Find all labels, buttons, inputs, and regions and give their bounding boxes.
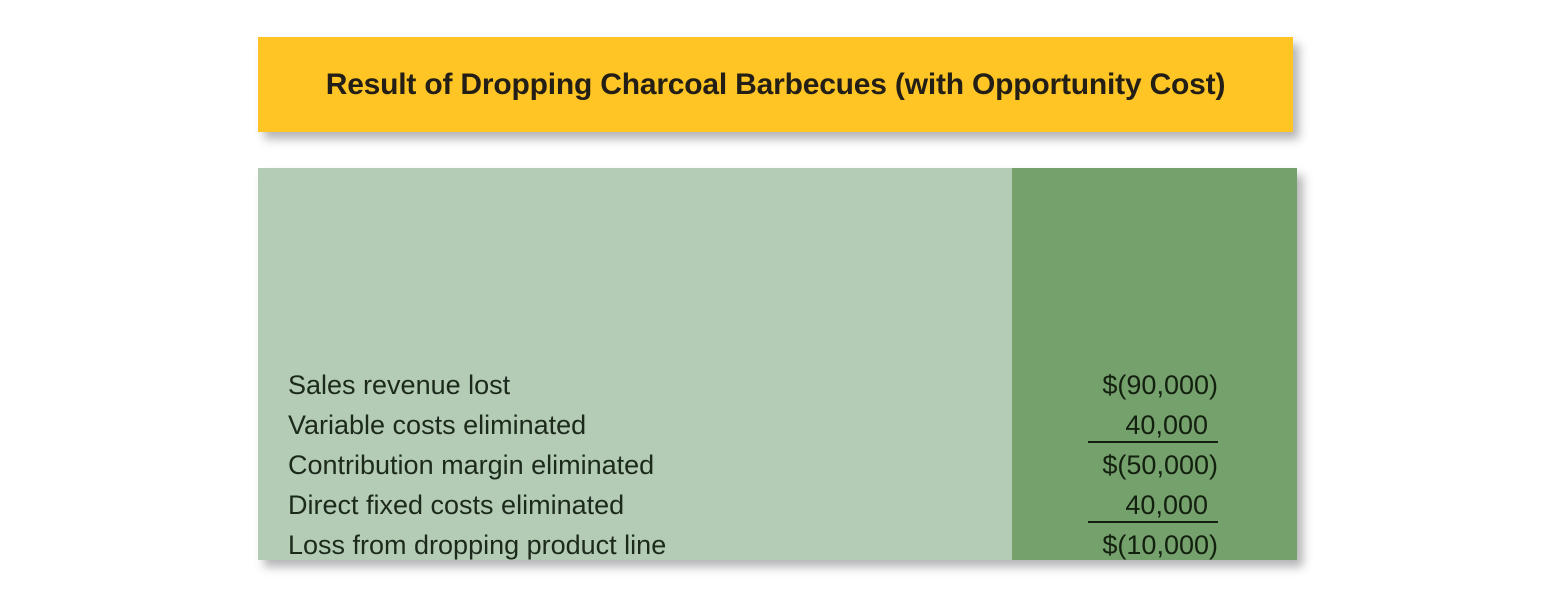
table-row: Loss from dropping product line$(10,000)	[258, 525, 1297, 560]
table-row: Variable costs eliminated40,000	[258, 405, 1297, 445]
table-rows: Sales revenue lost$(90,000)Variable cost…	[258, 168, 1297, 560]
row-amount: $(10,000)	[1102, 525, 1218, 560]
row-label: Loss from dropping product line	[288, 525, 666, 560]
row-label: Contribution margin eliminated	[288, 445, 654, 485]
row-label: Sales revenue lost	[288, 365, 510, 405]
row-label: Variable costs eliminated	[288, 405, 586, 445]
exhibit-figure: Result of Dropping Charcoal Barbecues (w…	[0, 0, 1560, 597]
row-amount: 40,000	[1125, 485, 1208, 525]
subtotal-rule	[1088, 441, 1218, 443]
table-row: Sales revenue lost$(90,000)	[258, 365, 1297, 405]
exhibit-title: Result of Dropping Charcoal Barbecues (w…	[326, 68, 1226, 102]
row-amount: $(90,000)	[1102, 365, 1218, 405]
table-row: Contribution margin eliminated$(50,000)	[258, 445, 1297, 485]
exhibit-body-panel: Sales revenue lost$(90,000)Variable cost…	[258, 168, 1297, 560]
exhibit-title-bar: Result of Dropping Charcoal Barbecues (w…	[258, 37, 1293, 132]
subtotal-rule	[1088, 521, 1218, 523]
row-label: Direct fixed costs eliminated	[288, 485, 624, 525]
row-amount: 40,000	[1125, 405, 1208, 445]
table-row: Direct fixed costs eliminated40,000	[258, 485, 1297, 525]
row-amount: $(50,000)	[1102, 445, 1218, 485]
